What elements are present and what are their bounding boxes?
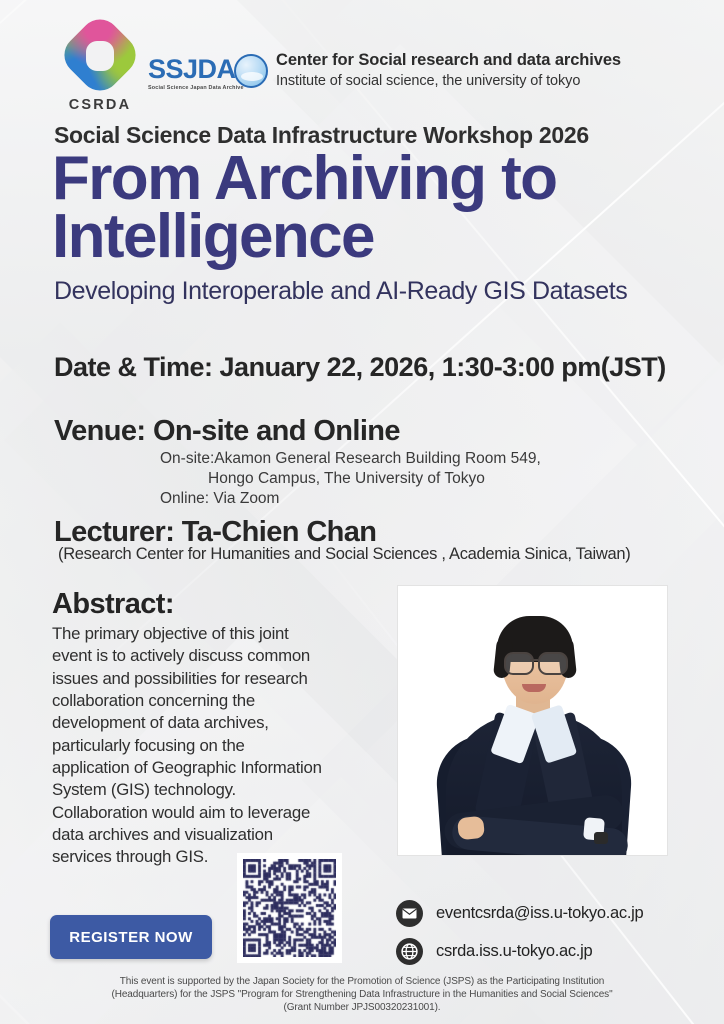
venue-onsite-line2: Hongo Campus, The University of Tokyo: [160, 469, 541, 489]
globe-icon: [396, 938, 423, 965]
venue-online-line: Online: Via Zoom: [160, 489, 541, 509]
organization-name: Center for Social research and data arch…: [276, 50, 706, 70]
contact-website-row[interactable]: csrda.iss.u-tokyo.ac.jp: [396, 938, 696, 965]
registration-qr-code[interactable]: [237, 853, 342, 963]
poster-subtitle: Developing Interoperable and AI-Ready GI…: [54, 277, 627, 306]
date-time-line: Date & Time: January 22, 2026, 1:30-3:00…: [54, 352, 666, 383]
venue-onsite-line1: On-site:Akamon General Research Building…: [160, 450, 541, 467]
csrda-diamond-icon: [63, 24, 135, 96]
funding-footnote: This event is supported by the Japan Soc…: [0, 975, 724, 1015]
contact-website-text: csrda.iss.u-tokyo.ac.jp: [436, 942, 592, 961]
lecturer-affiliation: (Research Center for Humanities and Soci…: [58, 545, 630, 564]
ssjda-logo: SSJDA Social Science Japan Data Archive: [148, 56, 268, 102]
abstract-body: The primary objective of this joint even…: [52, 623, 387, 869]
contact-email-row[interactable]: eventcsrda@iss.u-tokyo.ac.jp: [396, 900, 696, 927]
poster-canvas: CSRDA SSJDA Social Science Japan Data Ar…: [0, 0, 724, 1024]
organization-block: Center for Social research and data arch…: [276, 50, 706, 89]
lecturer-portrait-illustration: [398, 586, 667, 855]
lecturer-photo: [398, 586, 667, 855]
poster-main-title: From Archiving to Intelligence: [52, 150, 712, 265]
ssjda-globe-icon: [234, 54, 268, 88]
venue-heading: Venue: On-site and Online: [54, 415, 400, 448]
qr-code-canvas[interactable]: [243, 859, 336, 957]
csrda-logo-wordmark: CSRDA: [57, 97, 143, 113]
register-now-button[interactable]: REGISTER NOW: [50, 915, 212, 959]
poster-header: CSRDA SSJDA Social Science Japan Data Ar…: [0, 18, 724, 104]
envelope-icon: [396, 900, 423, 927]
csrda-logo: CSRDA: [57, 24, 143, 108]
venue-details: On-site:Akamon General Research Building…: [160, 449, 541, 508]
contact-email-text: eventcsrda@iss.u-tokyo.ac.jp: [436, 904, 643, 923]
abstract-heading: Abstract:: [52, 588, 174, 621]
contact-block: eventcsrda@iss.u-tokyo.ac.jp csrda.iss.u…: [396, 900, 696, 976]
organization-institute: Institute of social science, the univers…: [276, 73, 706, 89]
